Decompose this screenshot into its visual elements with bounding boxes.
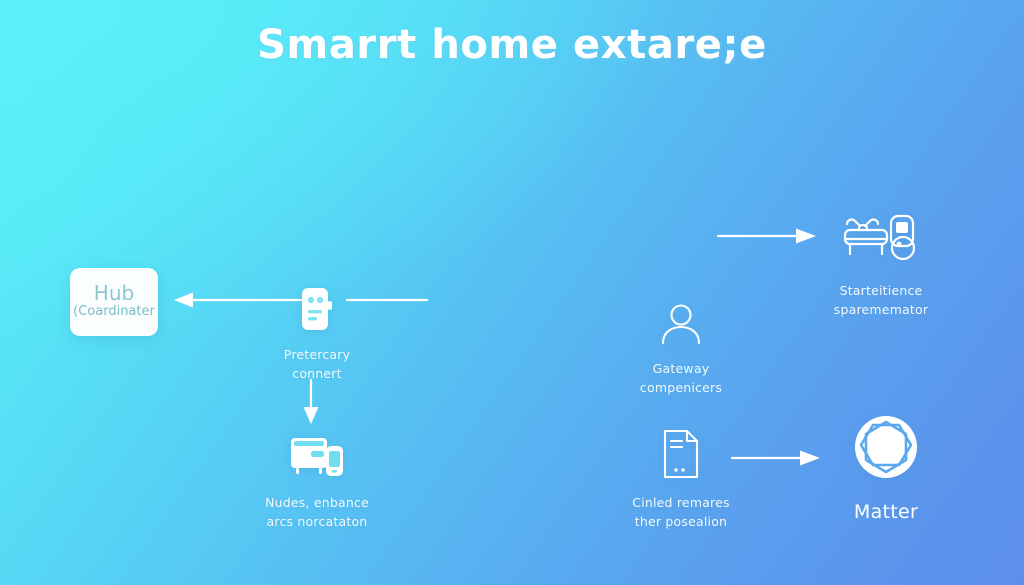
- caption-line-1: Gateway: [640, 360, 722, 379]
- bed-monitor-icon: [841, 212, 921, 268]
- caption-line-1: Nudes, enbance: [265, 494, 369, 513]
- caption-line-1: Pretercary: [284, 346, 350, 365]
- caption-line-2: arcs norcataton: [265, 513, 369, 532]
- document-file-icon: [659, 428, 703, 480]
- diagram-canvas: Smarrt home extare;e Hub (Coardinater: [0, 0, 1024, 585]
- arrow-down-icon: [300, 378, 322, 430]
- caption-line-2: ther posealion: [632, 513, 729, 532]
- node-cloud-remares[interactable]: Cinled remares ther posealion: [596, 428, 766, 532]
- hub-sublabel: (Coardinater: [73, 304, 155, 320]
- caption-line-2: sparememator: [834, 301, 928, 320]
- node-primary-connect[interactable]: Pretercary connert: [232, 286, 402, 384]
- hub-label: Hub: [94, 283, 134, 304]
- caption-line-1: Matter: [854, 498, 918, 527]
- node-sparememator[interactable]: Starteitience sparememator: [796, 212, 966, 320]
- node-caption: Starteitience sparememator: [834, 282, 928, 320]
- smart-hub-device-icon: [298, 286, 336, 332]
- node-caption: Pretercary connert: [284, 346, 350, 384]
- caption-line-2: connert: [284, 365, 350, 384]
- user-person-icon: [658, 302, 704, 346]
- node-caption: Cinled remares ther posealion: [632, 494, 729, 532]
- page-title: Smarrt home extare;e: [0, 22, 1024, 68]
- node-gateway-components[interactable]: Gateway compenicers: [596, 302, 766, 398]
- caption-line-1: Cinled remares: [632, 494, 729, 513]
- hub-card[interactable]: Hub (Coardinater: [70, 268, 158, 336]
- matter-logo-icon: [853, 414, 919, 480]
- appliance-phone-icon: [289, 432, 345, 480]
- node-matter[interactable]: Matter: [801, 414, 971, 527]
- caption-line-1: Starteitience: [834, 282, 928, 301]
- node-caption: Nudes, enbance arcs norcataton: [265, 494, 369, 532]
- node-caption: Gateway compenicers: [640, 360, 722, 398]
- caption-line-2: compenicers: [640, 379, 722, 398]
- node-nodes-enhance[interactable]: Nudes, enbance arcs norcataton: [232, 432, 402, 532]
- node-caption: Matter: [854, 498, 918, 527]
